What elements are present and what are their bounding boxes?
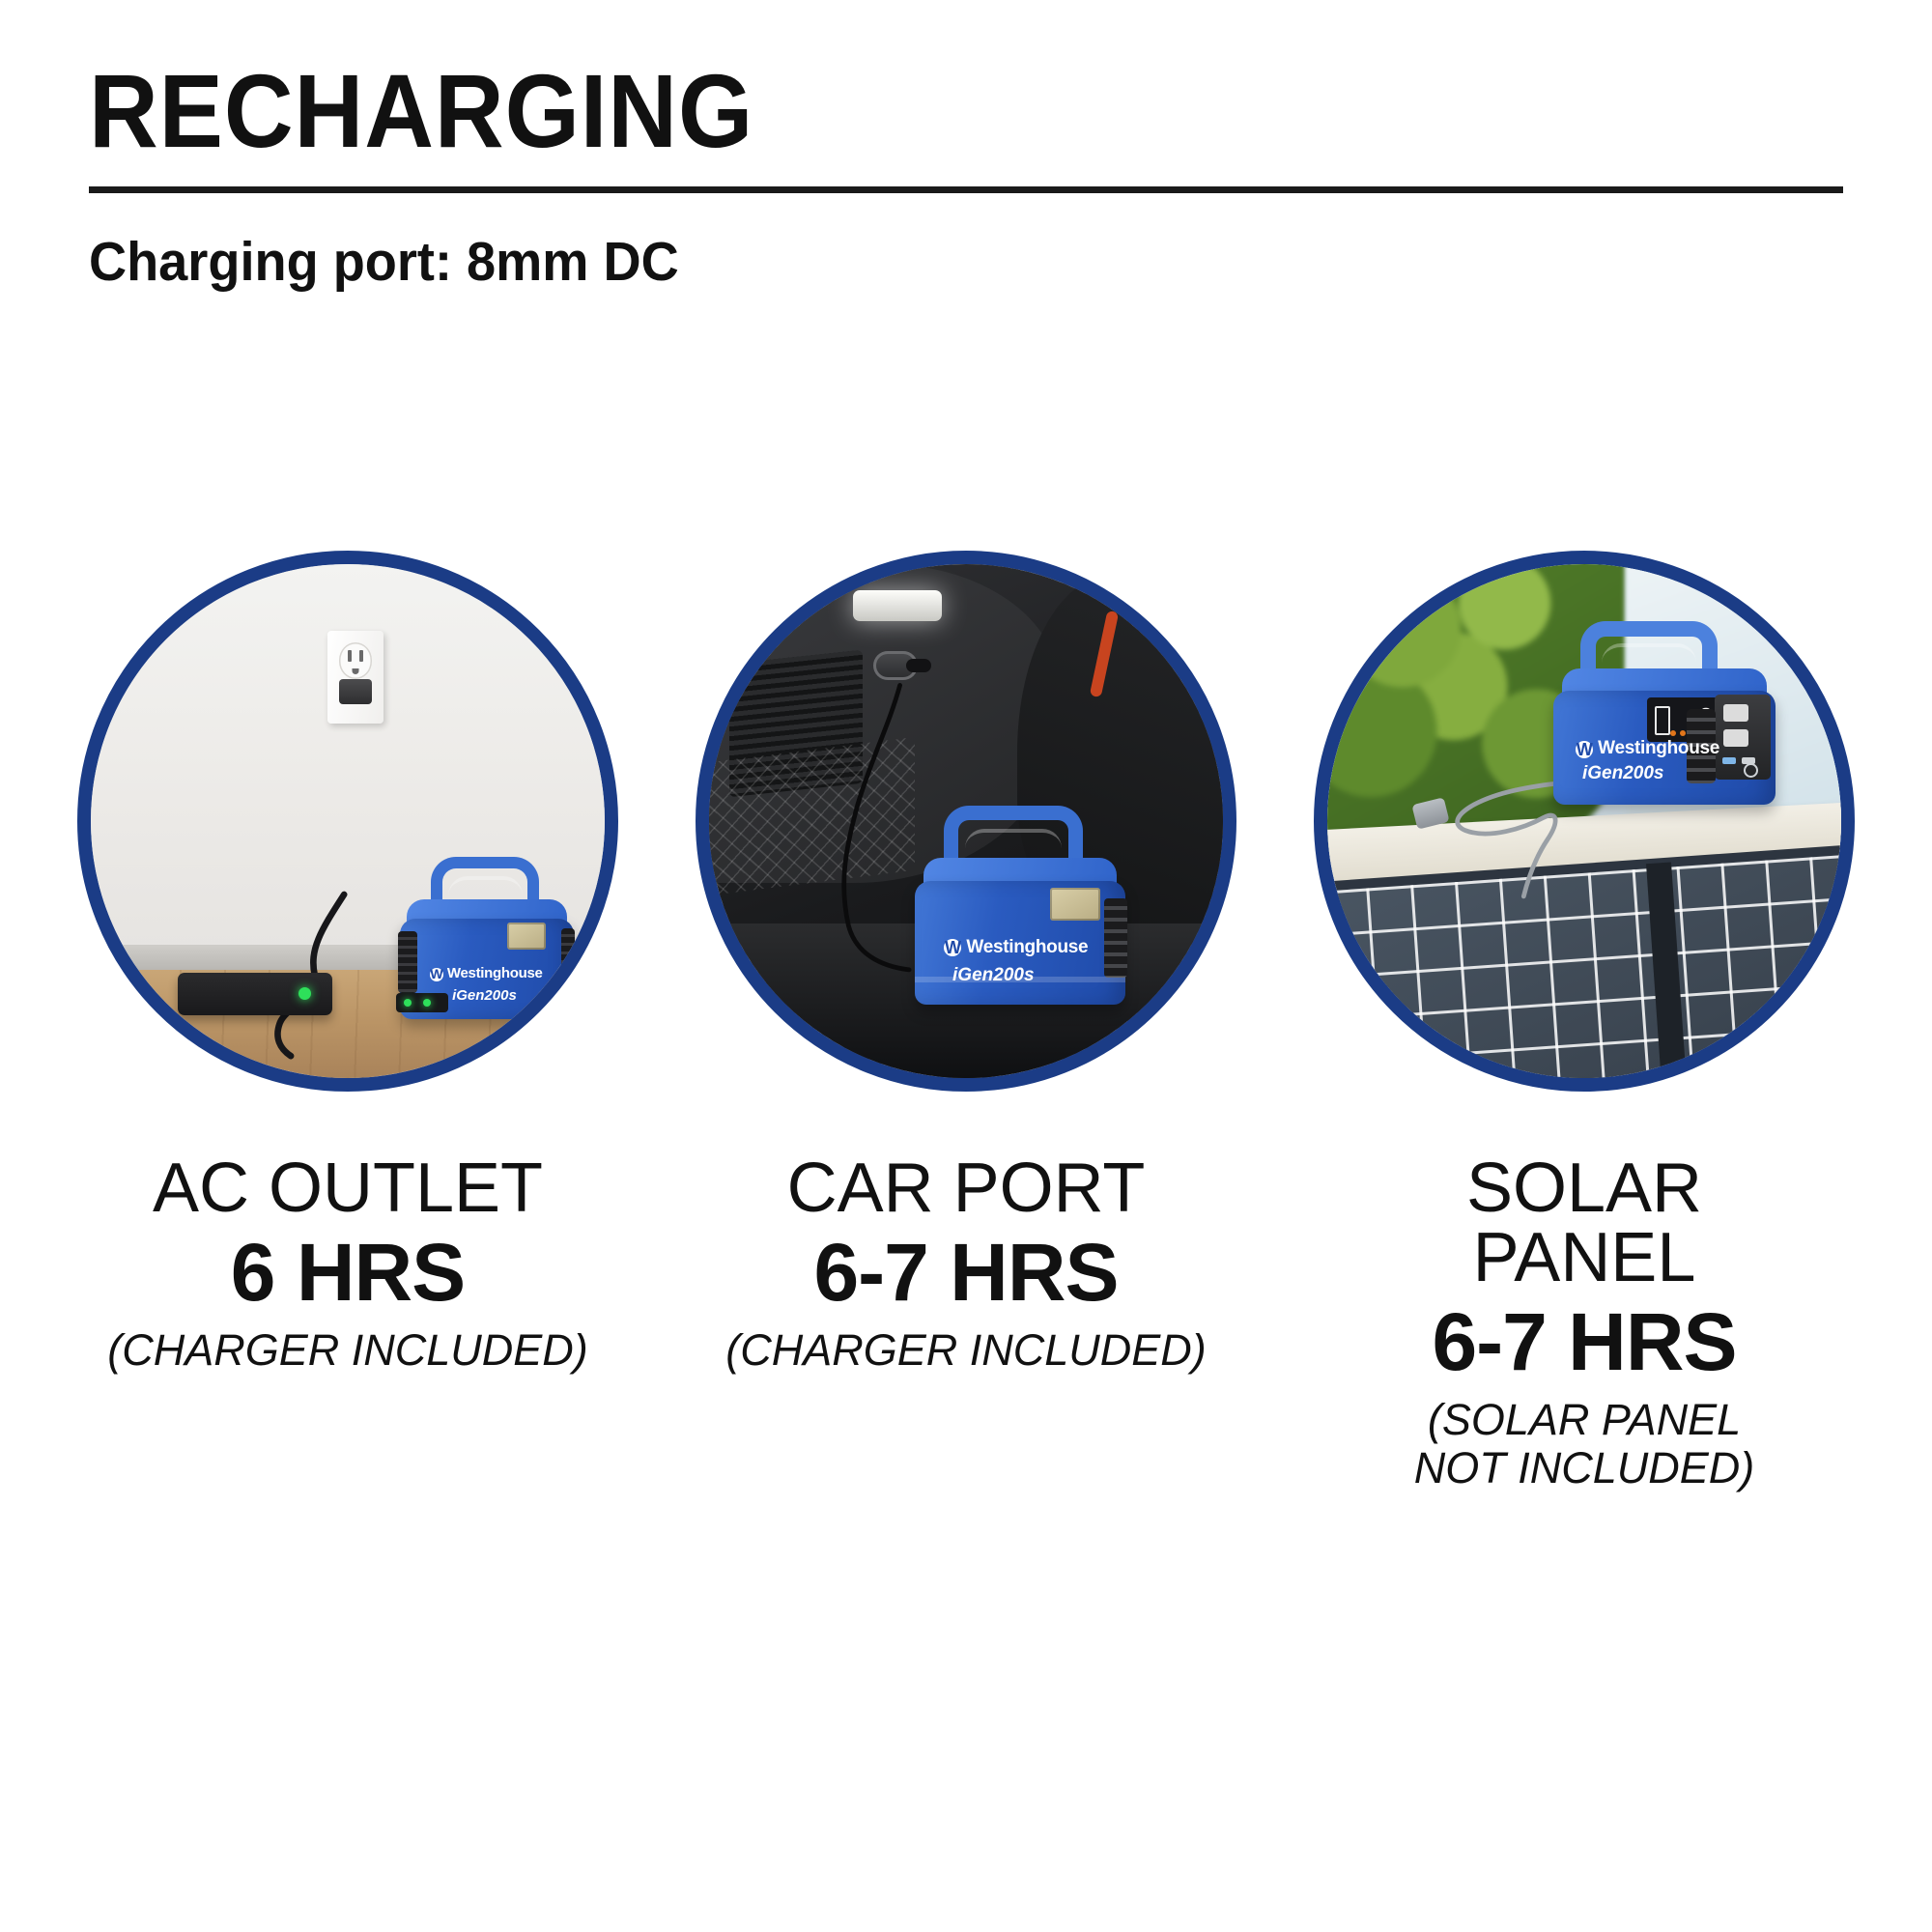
- side-vent-right: [1104, 898, 1127, 978]
- output-port-panel: [1715, 695, 1771, 779]
- method-label-line1: SOLAR: [1285, 1153, 1884, 1223]
- ac-charger-brick: [178, 973, 332, 1015]
- photo-circle-car-port: WWestinghouse iGen200s: [696, 551, 1236, 1092]
- method-label-line2: PANEL: [1285, 1223, 1884, 1293]
- method-note: (CHARGER INCLUDED): [48, 1326, 647, 1375]
- method-note-line: (SOLAR PANEL: [1285, 1396, 1884, 1444]
- caption-car-port: CAR PORT 6-7 HRS (CHARGER INCLUDED): [667, 1153, 1265, 1375]
- display-screen: [1050, 888, 1100, 921]
- battery-icon: [1655, 706, 1670, 735]
- method-note: (SOLAR PANEL NOT INCLUDED): [1285, 1396, 1884, 1493]
- status-dot: [1670, 730, 1676, 736]
- page-title: RECHARGING: [89, 56, 1703, 165]
- brand-name: Westinghouse: [1598, 738, 1719, 758]
- charge-time-value: 6-7 HRS: [1285, 1298, 1884, 1386]
- charge-time-value: 6 HRS: [48, 1229, 647, 1317]
- brand-name: Westinghouse: [447, 965, 543, 981]
- method-label: AC OUTLET: [48, 1153, 647, 1223]
- caption-ac-outlet: AC OUTLET 6 HRS (CHARGER INCLUDED): [48, 1153, 647, 1375]
- side-vent-left: [398, 931, 417, 994]
- method-column-ac-outlet: WWestinghouse iGen200s A: [58, 551, 638, 1375]
- method-label: CAR PORT: [667, 1153, 1265, 1223]
- power-station-unit: 0 W: [1553, 621, 1776, 805]
- method-note: (CHARGER INCLUDED): [667, 1326, 1265, 1375]
- method-column-solar-panel: 0 W: [1294, 551, 1874, 1493]
- photo-circle-ac-outlet: WWestinghouse iGen200s: [77, 551, 618, 1092]
- ac-outlet-icon-2: [1723, 729, 1748, 747]
- method-column-car-port: WWestinghouse iGen200s CAR PORT 6-7 HRS …: [676, 551, 1256, 1375]
- model-name: iGen200s: [1582, 763, 1664, 784]
- display-screen: [507, 923, 546, 950]
- dc-output-icon: [1744, 763, 1758, 778]
- scene-car-port: WWestinghouse iGen200s: [709, 564, 1223, 1078]
- body-highlight-stripe: [915, 977, 1125, 982]
- charge-time-value: 6-7 HRS: [667, 1229, 1265, 1317]
- westinghouse-w-icon: W: [944, 939, 961, 956]
- westinghouse-w-icon: W: [1576, 741, 1593, 758]
- charging-port-subtitle: Charging port: 8mm DC: [89, 230, 1755, 294]
- brand-logo: WWestinghouse: [430, 965, 543, 981]
- generator-body-group: 0 W: [1553, 621, 1776, 805]
- caption-solar-panel: SOLAR PANEL 6-7 HRS (SOLAR PANEL NOT INC…: [1285, 1153, 1884, 1493]
- dc-input-plug: [396, 993, 448, 1012]
- method-note-line: (CHARGER INCLUDED): [48, 1326, 647, 1375]
- dc-charge-led-icon-2: [423, 999, 431, 1007]
- method-note-line: (CHARGER INCLUDED): [667, 1326, 1265, 1375]
- brand-name: Westinghouse: [966, 937, 1088, 957]
- westinghouse-w-icon: W: [430, 968, 443, 981]
- header: RECHARGING Charging port: 8mm DC: [89, 56, 1843, 294]
- recharging-methods-row: WWestinghouse iGen200s A: [58, 551, 1874, 1493]
- generator-main-body: WWestinghouse iGen200s: [915, 881, 1125, 1005]
- power-station-unit: WWestinghouse iGen200s: [400, 857, 574, 1019]
- power-station-unit: WWestinghouse iGen200s: [915, 806, 1125, 1005]
- photo-circle-solar-panel: 0 W: [1314, 551, 1855, 1092]
- generator-body-group: WWestinghouse iGen200s: [400, 857, 574, 1019]
- charging-led-indicator: [298, 987, 311, 1000]
- dc-charge-led-icon: [404, 999, 412, 1007]
- generator-main-body: WWestinghouse iGen200s: [400, 919, 574, 1019]
- side-vent-right: [561, 928, 575, 995]
- usb-port-icon: [1722, 757, 1736, 764]
- infographic-page: RECHARGING Charging port: 8mm DC: [0, 0, 1932, 1932]
- ac-outlet-icon: [1723, 704, 1748, 722]
- generator-body-group: WWestinghouse iGen200s: [915, 806, 1125, 1005]
- status-dot: [1680, 730, 1686, 736]
- brand-logo: WWestinghouse: [1576, 738, 1719, 759]
- scene-solar-panel: 0 W: [1327, 564, 1841, 1078]
- title-divider: [89, 186, 1843, 193]
- method-note-line-2: NOT INCLUDED): [1285, 1444, 1884, 1492]
- generator-main-body: 0 W: [1553, 691, 1776, 805]
- method-label: SOLAR PANEL: [1285, 1153, 1884, 1293]
- model-name: iGen200s: [452, 987, 517, 1004]
- scene-ac-outlet: WWestinghouse iGen200s: [91, 564, 605, 1078]
- brand-logo: WWestinghouse: [944, 937, 1088, 958]
